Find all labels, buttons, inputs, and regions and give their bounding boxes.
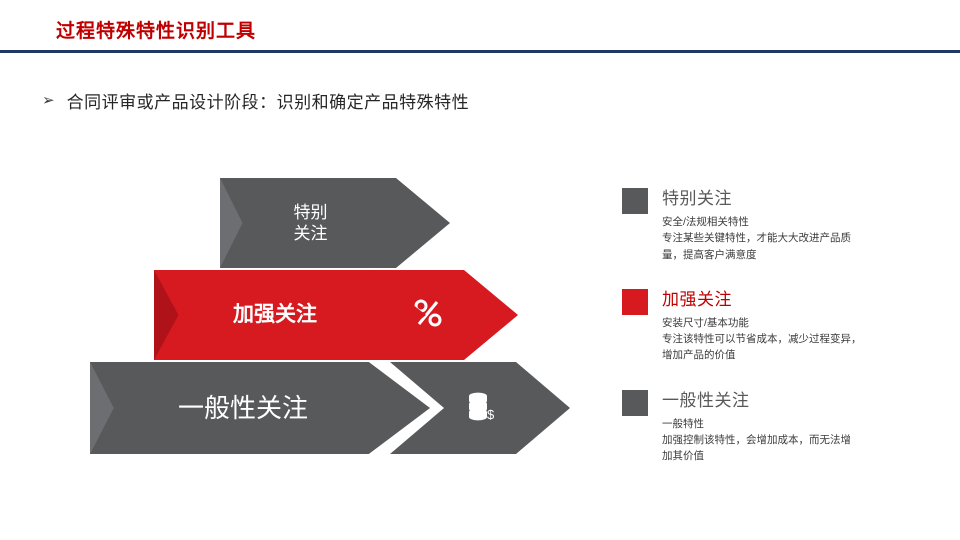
legend-line: 增加产品的价值 bbox=[662, 347, 862, 363]
legend-line: 量，提高客户满意度 bbox=[662, 247, 851, 263]
chevron-top-label-line1: 特别 bbox=[294, 202, 328, 223]
legend-line: 加其价值 bbox=[662, 448, 851, 464]
legend-swatch-special bbox=[622, 188, 648, 214]
legend-line: 专注某些关键特性，才能大大改进产品质 bbox=[662, 230, 851, 246]
legend-heading-special: 特别关注 bbox=[662, 184, 851, 209]
chevron-top-label-line2: 关注 bbox=[294, 223, 328, 244]
legend-line: 安装尺寸/基本功能 bbox=[662, 315, 862, 331]
legend-body-special: 安全/法规相关特性 专注某些关键特性，才能大大改进产品质 量，提高客户满意度 bbox=[662, 214, 851, 263]
legend-item-general: 一般性关注 一般特性 加强控制该特性，会增加成本，而无法增 加其价值 bbox=[622, 386, 922, 465]
legend-swatch-enhanced bbox=[622, 289, 648, 315]
title-divider bbox=[0, 50, 960, 53]
legend-swatch-general bbox=[622, 390, 648, 416]
legend-line: 一般特性 bbox=[662, 416, 851, 432]
legend-heading-general: 一般性关注 bbox=[662, 386, 851, 411]
legend-item-special: 特别关注 安全/法规相关特性 专注某些关键特性，才能大大改进产品质 量，提高客户… bbox=[622, 184, 922, 263]
legend-body-general: 一般特性 加强控制该特性，会增加成本，而无法增 加其价值 bbox=[662, 416, 851, 465]
legend-heading-enhanced: 加强关注 bbox=[662, 285, 862, 310]
legend-line: 加强控制该特性，会增加成本，而无法增 bbox=[662, 432, 851, 448]
pyramid-diagram: $ 特别 关注 加强关注 一般性关注 bbox=[90, 178, 550, 468]
svg-text:$: $ bbox=[487, 407, 495, 422]
arrow-bullet-icon: ➢ bbox=[42, 93, 55, 108]
legend-line: 专注该特性可以节省成本，减少过程变异， bbox=[662, 331, 862, 347]
chevron-level-bottom: 一般性关注 bbox=[90, 362, 430, 454]
legend-line: 安全/法规相关特性 bbox=[662, 214, 851, 230]
legend: 特别关注 安全/法规相关特性 专注某些关键特性，才能大大改进产品质 量，提高客户… bbox=[622, 184, 922, 486]
legend-item-enhanced: 加强关注 安装尺寸/基本功能 专注该特性可以节省成本，减少过程变异， 增加产品的… bbox=[622, 285, 922, 364]
bullet-row: ➢ 合同评审或产品设计阶段：识别和确定产品特殊特性 bbox=[42, 88, 469, 113]
chevron-level-middle: 加强关注 bbox=[154, 270, 426, 360]
bullet-text: 合同评审或产品设计阶段：识别和确定产品特殊特性 bbox=[67, 88, 470, 113]
money-stack-icon: $ bbox=[463, 389, 497, 428]
page-title: 过程特殊特性识别工具 bbox=[56, 16, 256, 43]
legend-body-enhanced: 安装尺寸/基本功能 专注该特性可以节省成本，减少过程变异， 增加产品的价值 bbox=[662, 315, 862, 364]
